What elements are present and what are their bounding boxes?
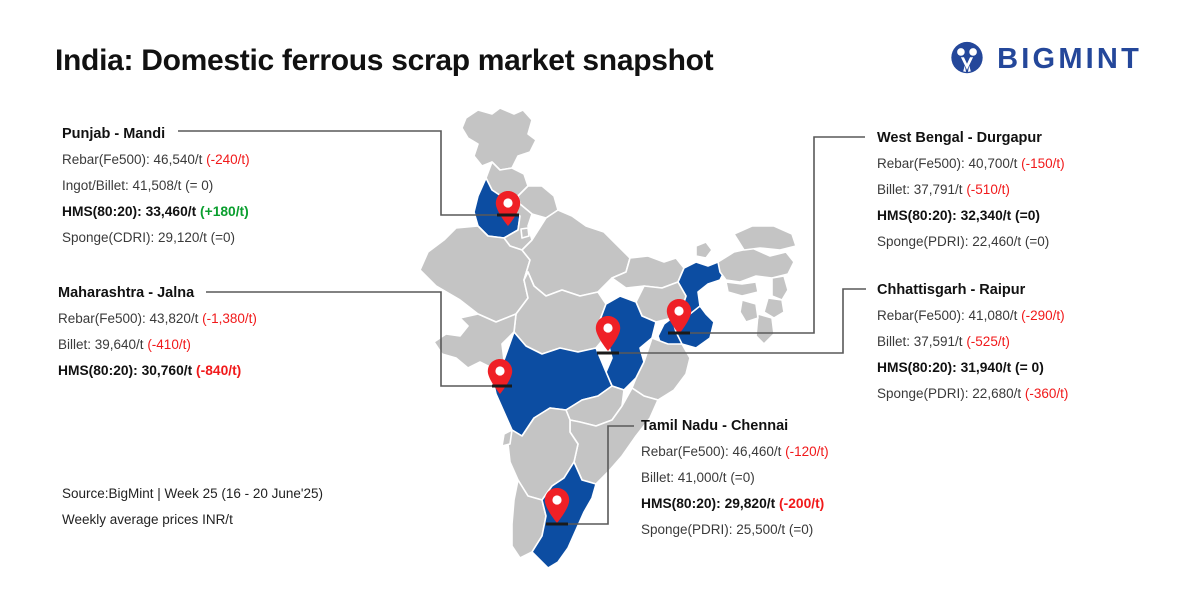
price-row-highlight: HMS(80:20): 32,340/t (=0) — [877, 207, 1065, 224]
price-delta: (=0) — [789, 522, 813, 537]
price-label: Rebar(Fe500): — [58, 311, 150, 326]
bigmint-logo: BIGMINT — [948, 40, 1142, 78]
price-value: 39,640/t — [95, 337, 148, 352]
price-delta: (-840/t) — [196, 363, 241, 378]
price-delta: (=0) — [1025, 234, 1049, 249]
state-sikkim — [696, 242, 712, 258]
price-row: Ingot/Billet: 41,508/t (= 0) — [62, 177, 250, 194]
state-mizoram — [756, 314, 774, 344]
price-delta: (-240/t) — [206, 152, 250, 167]
price-row: Billet: 39,640/t (-410/t) — [58, 336, 257, 353]
infographic-canvas: India: Domestic ferrous scrap market sna… — [0, 0, 1200, 600]
price-value: 46,540/t — [154, 152, 207, 167]
price-label: Rebar(Fe500): — [877, 156, 969, 171]
price-delta: (-150/t) — [1021, 156, 1065, 171]
price-label: HMS(80:20): — [62, 204, 146, 219]
bigmint-circle-figures-icon — [948, 40, 986, 78]
price-value: 41,508/t — [133, 178, 186, 193]
price-delta: (-120/t) — [785, 444, 829, 459]
price-value: 31,940/t — [961, 360, 1015, 375]
price-row: Rebar(Fe500): 41,080/t (-290/t) — [877, 307, 1068, 324]
state-jammu-kashmir — [462, 108, 536, 170]
price-delta: (+180/t) — [200, 204, 249, 219]
price-label: Sponge(PDRI): — [641, 522, 736, 537]
price-delta: (-360/t) — [1025, 386, 1069, 401]
price-row: Sponge(PDRI): 25,500/t (=0) — [641, 521, 829, 538]
price-label: Sponge(PDRI): — [877, 234, 972, 249]
price-label: Billet: — [877, 334, 914, 349]
state-delhi — [521, 228, 529, 238]
price-value: 32,340/t — [961, 208, 1015, 223]
price-value: 41,080/t — [969, 308, 1022, 323]
source-line: Source:BigMint | Week 25 (16 - 20 June'2… — [62, 481, 323, 507]
panel-title-maharashtra: Maharashtra - Jalna — [58, 284, 257, 302]
price-label: HMS(80:20): — [641, 496, 725, 511]
price-delta: (-510/t) — [966, 182, 1010, 197]
price-row: Sponge(PDRI): 22,460/t (=0) — [877, 233, 1065, 250]
price-value: 29,820/t — [725, 496, 779, 511]
bigmint-wordmark: BIGMINT — [997, 45, 1142, 74]
price-delta: (-525/t) — [966, 334, 1010, 349]
state-nagaland — [772, 276, 788, 300]
price-label: Billet: — [58, 337, 95, 352]
price-label: HMS(80:20): — [58, 363, 142, 378]
state-manipur — [764, 298, 784, 318]
price-value: 41,000/t — [678, 470, 731, 485]
price-delta: (-410/t) — [147, 337, 191, 352]
price-row: Sponge(PDRI): 22,680/t (-360/t) — [877, 385, 1068, 402]
price-value: 25,500/t — [736, 522, 789, 537]
price-label: HMS(80:20): — [877, 360, 961, 375]
price-label: Billet: — [641, 470, 678, 485]
price-value: 22,680/t — [972, 386, 1025, 401]
price-value: 37,591/t — [914, 334, 967, 349]
price-row: Rebar(Fe500): 46,540/t (-240/t) — [62, 151, 250, 168]
price-delta: (= 0) — [1015, 360, 1044, 375]
price-delta: (=0) — [730, 470, 754, 485]
state-meghalaya — [726, 282, 758, 296]
price-label: Rebar(Fe500): — [641, 444, 733, 459]
price-label: Rebar(Fe500): — [877, 308, 969, 323]
info-panel-tamilnadu: Tamil Nadu - Chennai Rebar(Fe500): 46,46… — [641, 417, 829, 538]
info-panel-westbengal: West Bengal - Durgapur Rebar(Fe500): 40,… — [877, 129, 1065, 250]
panel-title-tamilnadu: Tamil Nadu - Chennai — [641, 417, 829, 435]
price-value: 43,820/t — [150, 311, 203, 326]
price-label: Sponge(CDRI): — [62, 230, 158, 245]
price-delta: (= 0) — [185, 178, 213, 193]
price-row-highlight: HMS(80:20): 30,760/t (-840/t) — [58, 362, 257, 379]
source-note: Source:BigMint | Week 25 (16 - 20 June'2… — [62, 481, 323, 533]
state-uttar-pradesh — [522, 210, 630, 296]
price-delta: (-200/t) — [779, 496, 824, 511]
price-label: Ingot/Billet: — [62, 178, 133, 193]
page-title: India: Domestic ferrous scrap market sna… — [55, 44, 713, 78]
price-row-highlight: HMS(80:20): 29,820/t (-200/t) — [641, 495, 829, 512]
price-row-highlight: HMS(80:20): 33,460/t (+180/t) — [62, 203, 250, 220]
price-label: HMS(80:20): — [877, 208, 961, 223]
price-value: 29,120/t — [158, 230, 211, 245]
price-row: Billet: 37,591/t (-525/t) — [877, 333, 1068, 350]
price-delta: (=0) — [1015, 208, 1040, 223]
price-value: 33,460/t — [146, 204, 200, 219]
info-panel-maharashtra: Maharashtra - Jalna Rebar(Fe500): 43,820… — [58, 284, 257, 379]
price-row: Rebar(Fe500): 46,460/t (-120/t) — [641, 443, 829, 460]
price-value: 40,700/t — [969, 156, 1022, 171]
state-goa — [502, 430, 512, 446]
state-arunachal — [734, 226, 796, 250]
price-row: Rebar(Fe500): 40,700/t (-150/t) — [877, 155, 1065, 172]
state-tripura — [740, 300, 758, 322]
price-label: Rebar(Fe500): — [62, 152, 154, 167]
price-label: Sponge(PDRI): — [877, 386, 972, 401]
price-delta: (-290/t) — [1021, 308, 1065, 323]
price-row-highlight: HMS(80:20): 31,940/t (= 0) — [877, 359, 1068, 376]
price-delta: (-1,380/t) — [202, 311, 257, 326]
price-row: Rebar(Fe500): 43,820/t (-1,380/t) — [58, 310, 257, 327]
price-delta: (=0) — [211, 230, 235, 245]
price-label: Billet: — [877, 182, 914, 197]
units-line: Weekly average prices INR/t — [62, 507, 323, 533]
price-row: Billet: 41,000/t (=0) — [641, 469, 829, 486]
price-value: 22,460/t — [972, 234, 1025, 249]
panel-title-westbengal: West Bengal - Durgapur — [877, 129, 1065, 147]
price-value: 37,791/t — [914, 182, 967, 197]
panel-title-punjab: Punjab - Mandi — [62, 125, 250, 143]
price-row: Sponge(CDRI): 29,120/t (=0) — [62, 229, 250, 246]
info-panel-chhattisgarh: Chhattisgarh - Raipur Rebar(Fe500): 41,0… — [877, 281, 1068, 402]
panel-title-chhattisgarh: Chhattisgarh - Raipur — [877, 281, 1068, 299]
info-panel-punjab: Punjab - Mandi Rebar(Fe500): 46,540/t (-… — [62, 125, 250, 246]
price-value: 46,460/t — [733, 444, 786, 459]
price-value: 30,760/t — [142, 363, 196, 378]
price-row: Billet: 37,791/t (-510/t) — [877, 181, 1065, 198]
